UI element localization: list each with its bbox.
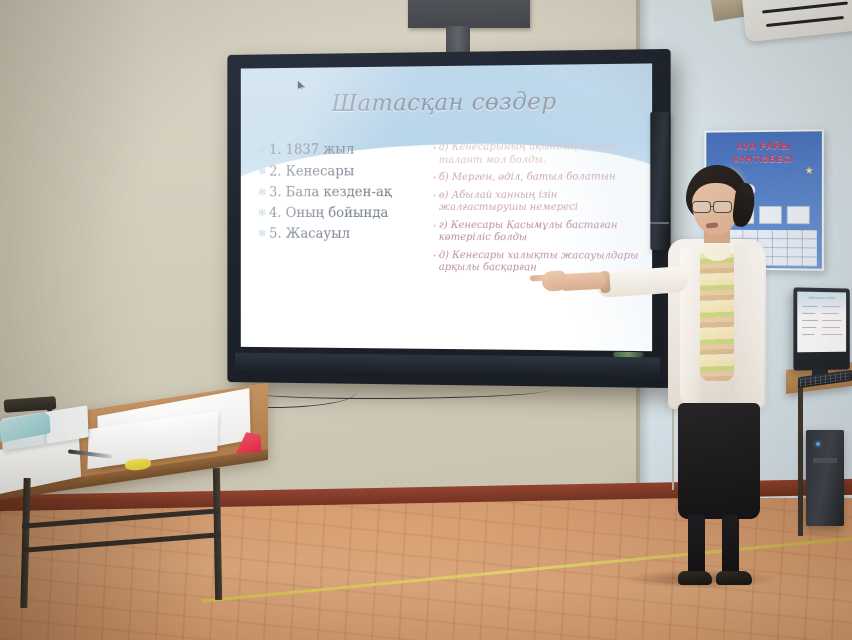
list-item: ✻ 3. Бала кезден-ақ (258, 185, 425, 199)
glasses-icon (713, 201, 732, 213)
list-item: ✻ 5. Жасауыл (258, 227, 425, 241)
asterisk-bullet-icon: ✻ (258, 227, 266, 240)
shoe (678, 571, 712, 585)
list-item: • в) Абылай ханның ізін жалғастырушы нем… (433, 189, 644, 214)
dot-bullet-icon: • (433, 220, 435, 230)
leg (688, 515, 705, 577)
asterisk-bullet-icon: ✻ (258, 185, 266, 198)
list-item: • г) Кенесары Қасымұлы бастаған көтерілі… (433, 220, 644, 245)
board-screen[interactable]: Шатасқан сөздер ✻ 1. 1837 жыл ✻ 2. Кенес… (241, 63, 652, 351)
shoe (716, 571, 752, 585)
asterisk-bullet-icon: ✻ (258, 144, 266, 157)
poster-title-line2: КҮНТІЗБЕСІ (706, 154, 822, 166)
power-led-icon (816, 442, 820, 446)
mouse-pointer-icon (296, 81, 306, 91)
slide-left-column: ✻ 1. 1837 жыл ✻ 2. Кенесары ✻ 3. Бала ке… (248, 143, 425, 344)
pointing-finger (530, 275, 548, 282)
monitor-slide-title: Шатасқан сөздер (797, 296, 846, 301)
list-item: ✻ 2. Кенесары (258, 164, 425, 179)
monitor-screen: Шатасқан сөздер (797, 292, 846, 353)
list-item-label: б) Мерген, әділ, батыл болатын (439, 172, 616, 185)
list-item-label: в) Абылай ханның ізін жалғастырушы немер… (439, 189, 644, 214)
list-item-label: 2. Кенесары (269, 164, 354, 178)
cardigan-lapel-right (734, 245, 764, 407)
teacher (630, 165, 790, 585)
list-item-label: г) Кенесары Қасымұлы бастаған көтеріліс … (439, 220, 644, 245)
slide-right-column: • а) Кенесарының ақындық өнерге талант м… (429, 141, 643, 345)
poster-title-line1: АУА РАЙЫ (706, 140, 822, 152)
list-item-label: 3. Бала кезден-ақ (269, 185, 392, 199)
presentation-slide[interactable]: Шатасқан сөздер ✻ 1. 1837 жыл ✻ 2. Кенес… (241, 63, 652, 351)
list-item-label: 4. Оның бойында (269, 206, 388, 220)
list-item: • б) Мерген, әділ, батыл болатын (433, 172, 644, 185)
pc-tower[interactable] (806, 430, 844, 526)
asterisk-bullet-icon: ✻ (258, 164, 266, 177)
dot-bullet-icon: • (433, 142, 435, 152)
slide-columns: ✻ 1. 1837 жыл ✻ 2. Кенесары ✻ 3. Бала ке… (241, 141, 652, 345)
shirt-collar (704, 245, 730, 261)
list-item: ✻ 4. Оның бойында (258, 206, 425, 220)
floor-shadow (0, 498, 300, 640)
glasses-icon (692, 201, 711, 213)
dot-bullet-icon: • (433, 190, 435, 200)
star-icon: ★ (805, 166, 814, 177)
hand (541, 270, 566, 292)
glasses-bridge (711, 206, 714, 207)
list-item: • а) Кенесарының ақындық өнерге талант м… (433, 141, 644, 167)
asterisk-bullet-icon: ✻ (258, 206, 266, 219)
computer-desk-leg (798, 386, 803, 536)
list-item: ✻ 1. 1837 жыл (258, 143, 425, 158)
dot-bullet-icon: • (433, 250, 435, 260)
interactive-whiteboard[interactable]: Шатасқан сөздер ✻ 1. 1837 жыл ✻ 2. Кенес… (227, 49, 670, 388)
leg (722, 515, 739, 577)
classroom-photo: АУА РАЙЫ КҮНТІЗБЕСІ ★ Шатасқан сөздер (0, 0, 852, 640)
optical-drive-bay[interactable] (813, 458, 837, 463)
skirt (678, 403, 760, 519)
list-item-label: а) Кенесарының ақындық өнерге талант мол… (439, 141, 644, 167)
dot-bullet-icon: • (433, 172, 435, 182)
board-pen-tray[interactable] (235, 353, 660, 380)
list-item-label: 1. 1837 жыл (269, 143, 354, 157)
list-item-label: 5. Жасауыл (269, 227, 350, 241)
projector-mount-bracket (408, 0, 530, 28)
desktop-monitor[interactable]: Шатасқан сөздер (793, 287, 849, 370)
slide-title: Шатасқан сөздер (241, 88, 652, 118)
poster-card (787, 206, 810, 224)
